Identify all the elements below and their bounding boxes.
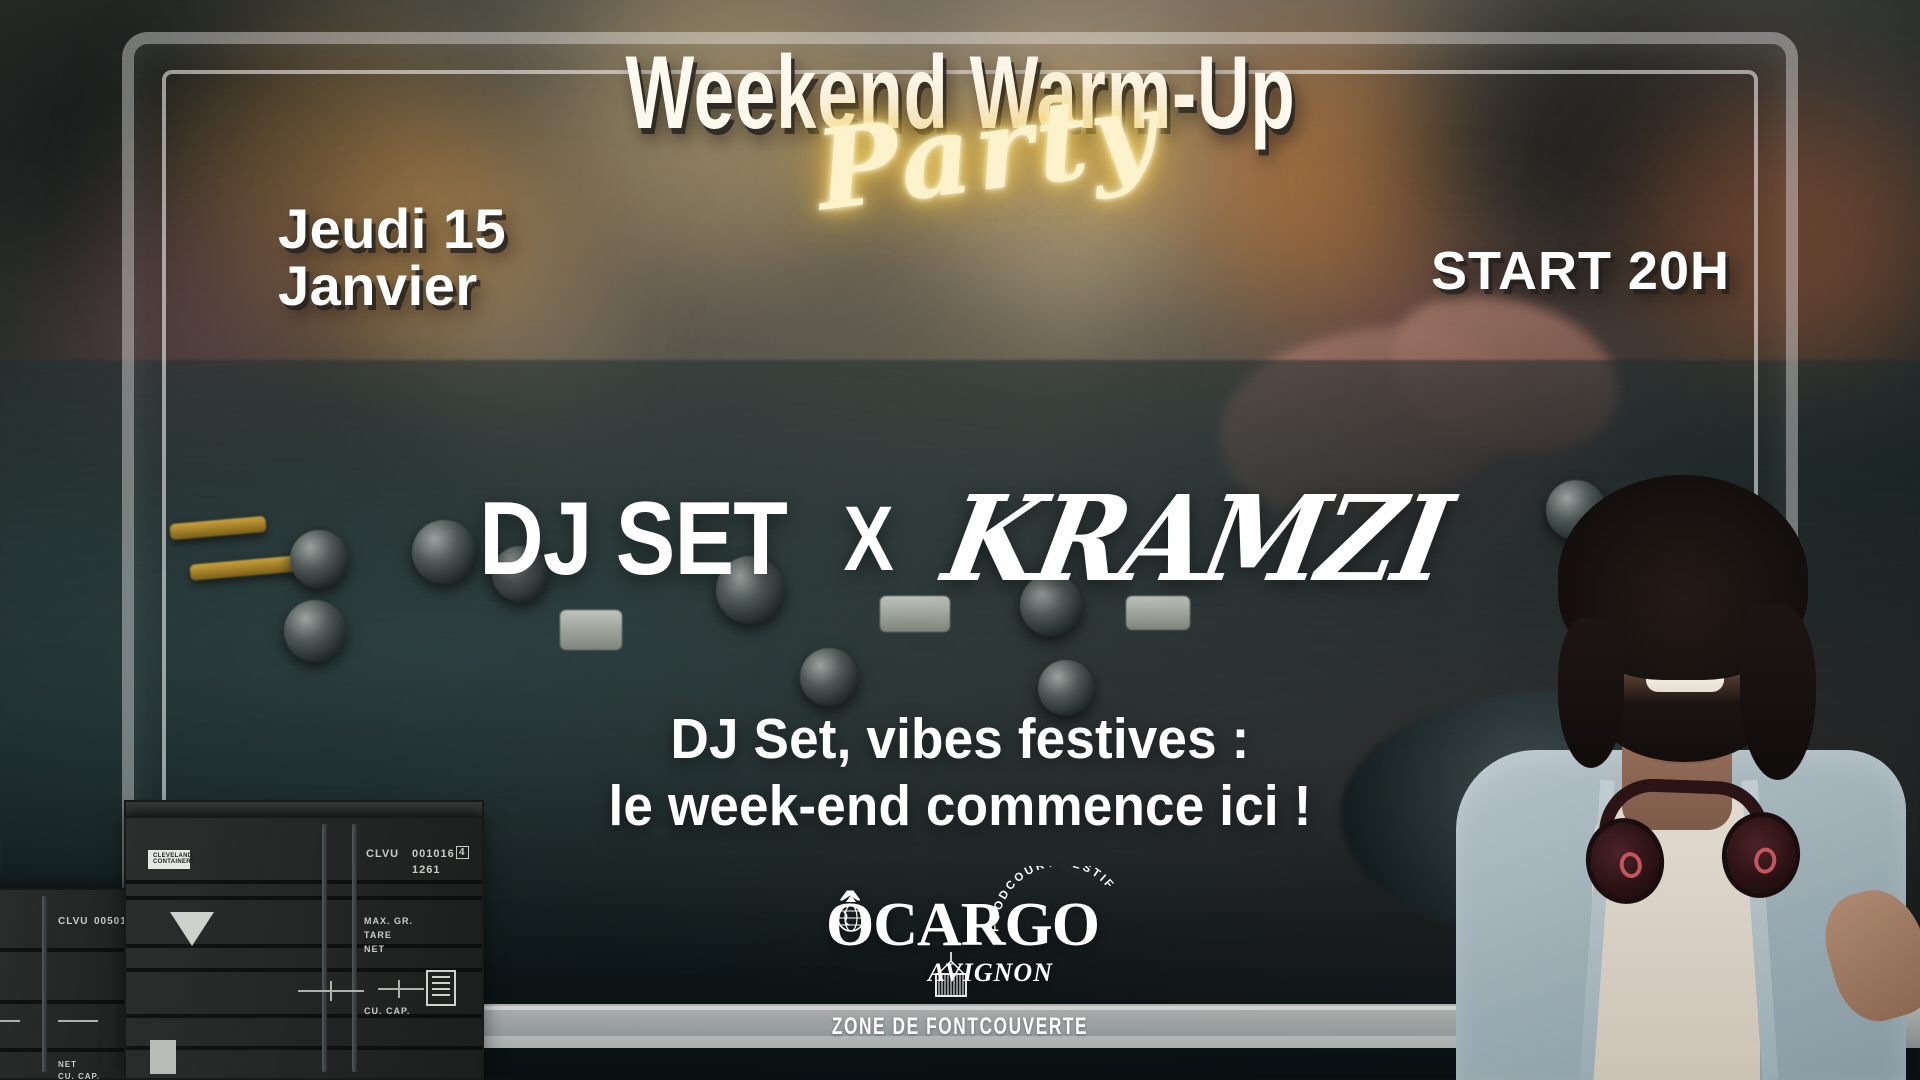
container-net-label: NET <box>364 944 385 954</box>
event-date: Jeudi 15 Janvier <box>278 200 506 314</box>
lineup-djset-label: DJ SET <box>479 487 787 591</box>
mixer-knob <box>800 648 858 706</box>
mixer-pad <box>560 610 622 650</box>
venue-logo: ÔCARGO AVIGNON FOODCOURT FESTIF <box>810 870 1110 1000</box>
container-brand-label: CLEVELAND CONTAINERS <box>148 850 190 869</box>
portrait-hair-side <box>1740 605 1816 780</box>
container-cucap-label: CU. CAP. <box>58 1072 100 1080</box>
portrait-hair-side <box>1558 618 1624 768</box>
container-owner-code: CLVU <box>366 848 399 860</box>
container-cucap-label: CU. CAP. <box>364 1006 410 1016</box>
dj-portrait <box>1440 360 1920 1080</box>
container-cargo-triangle <box>170 912 214 946</box>
shipping-container-crane-icon <box>918 952 984 1004</box>
shipping-container-front: CLEVELAND CONTAINERS CLVU 001016 4 1261 … <box>124 816 484 1080</box>
event-poster: Weekend Warm-Up Party Jeudi 15 Janvier S… <box>0 0 1920 1080</box>
mixer-knob <box>284 600 346 662</box>
event-date-line1: Jeudi 15 <box>278 197 506 260</box>
globe-icon <box>828 892 874 938</box>
shipping-containers-graphic: CLVU 005013 0 GR. NET CU. CAP. CLEVELAND… <box>0 800 480 1080</box>
event-date-line2: Janvier <box>278 257 506 314</box>
container-net-label: NET <box>58 1060 77 1069</box>
event-start-time: START 20H <box>1431 240 1730 302</box>
container-serial: 001016 <box>412 848 455 860</box>
lineup-artist-name: KRAMZI <box>936 480 1456 598</box>
poster-title: Weekend Warm-Up <box>625 44 1295 143</box>
container-owner-code: CLVU <box>58 916 88 927</box>
container-size-type: 1261 <box>412 864 440 876</box>
container-tare-label: TARE <box>364 930 392 940</box>
logo-arc-text: FOODCOURT FESTIF <box>988 866 1128 1006</box>
logo-arc-label: FOODCOURT FESTIF <box>989 866 1116 932</box>
container-check-digit: 4 <box>456 846 469 859</box>
container-placard-icon <box>426 970 456 1006</box>
lineup-x-separator: X <box>844 487 894 592</box>
title-block: Weekend Warm-Up <box>0 44 1920 143</box>
container-maxgr-label: MAX. GR. <box>364 916 413 926</box>
